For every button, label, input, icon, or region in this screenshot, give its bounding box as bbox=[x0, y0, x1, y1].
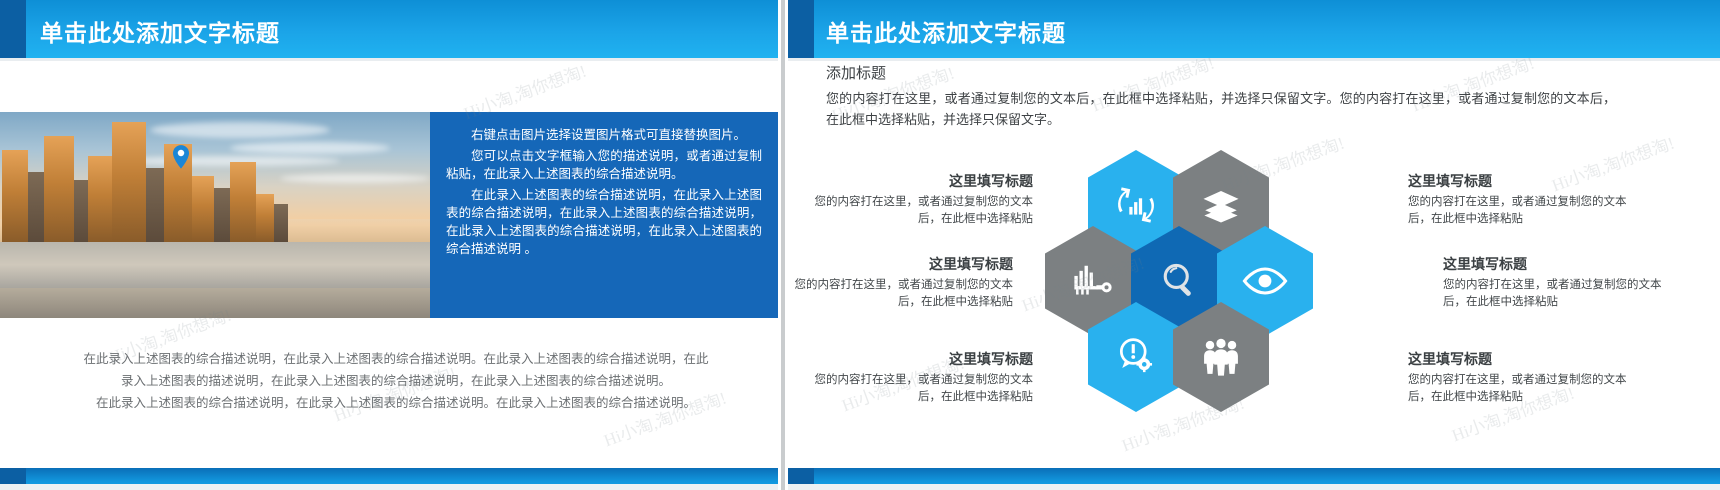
hex-label-desc: 您的内容打在这里，或者通过复制您的文本后，在此框中选择粘贴 bbox=[788, 277, 1013, 311]
refresh-chart-icon bbox=[1113, 182, 1159, 228]
right-page-title: 单击此处添加文字标题 bbox=[826, 14, 1066, 48]
bluebox-paragraph: 在此录入上述图表的综合描述说明，在此录入上述图表的综合描述说明，在此录入上述图表… bbox=[446, 186, 762, 258]
hex-label-title: 这里填写标题 bbox=[788, 255, 1013, 273]
right-header-bar: 单击此处添加文字标题 bbox=[788, 0, 1720, 58]
photo-building bbox=[192, 176, 214, 242]
photo-building bbox=[214, 188, 230, 242]
hex-label-desc: 您的内容打在这里，或者通过复制您的文本后，在此框中选择粘贴 bbox=[798, 194, 1033, 228]
hex-label-desc: 您的内容打在这里，或者通过复制您的文本后，在此框中选择粘贴 bbox=[1408, 372, 1643, 406]
left-page-title: 单击此处添加文字标题 bbox=[40, 14, 280, 48]
hex-label-title: 这里填写标题 bbox=[1443, 255, 1678, 273]
caption-line: 在此录入上述图表的综合描述说明，在此录入上述图表的综合描述说明。在此录入上述图表… bbox=[76, 348, 716, 370]
location-pin-icon bbox=[168, 144, 194, 170]
hex-label-4: 这里填写标题 您的内容打在这里，或者通过复制您的文本后，在此框中选择粘贴 bbox=[1443, 255, 1678, 311]
hex-label-title: 这里填写标题 bbox=[798, 350, 1033, 368]
right-intro-block: 添加标题 您的内容打在这里，或者通过复制您的文本后，在此框中选择粘贴，并选择只保… bbox=[826, 62, 1616, 130]
photo-building bbox=[112, 122, 146, 242]
photo-beach bbox=[0, 288, 430, 318]
slides-stage: 单击此处添加文字标题 bbox=[0, 0, 1720, 490]
left-blue-textbox: 右键点击图片选择设置图片格式可直接替换图片。 您可以点击文字框输入您的描述说明，… bbox=[430, 112, 778, 318]
photo-building bbox=[256, 194, 274, 242]
photo-building bbox=[2, 150, 28, 242]
bluebox-paragraph: 右键点击图片选择设置图片格式可直接替换图片。 bbox=[446, 126, 762, 144]
eye-icon bbox=[1241, 264, 1289, 298]
people-icon bbox=[1199, 337, 1243, 377]
photo-cloud bbox=[150, 122, 330, 138]
right-footer-strip bbox=[788, 484, 1720, 490]
caption-line: 在此录入上述图表的综合描述说明，在此录入上述图表的综合描述说明。在此录入上述图表… bbox=[76, 392, 716, 414]
photo-building bbox=[146, 168, 164, 242]
photo-cloud bbox=[280, 174, 430, 183]
hex-label-title: 这里填写标题 bbox=[1408, 172, 1643, 190]
hexagon-cluster bbox=[1033, 150, 1333, 412]
hex-label-desc: 您的内容打在这里，或者通过复制您的文本后，在此框中选择粘贴 bbox=[798, 372, 1033, 406]
right-header-underline bbox=[788, 58, 1720, 61]
left-caption: 在此录入上述图表的综合描述说明，在此录入上述图表的综合描述说明。在此录入上述图表… bbox=[76, 348, 716, 414]
hex-label-6: 这里填写标题 您的内容打在这里，或者通过复制您的文本后，在此框中选择粘贴 bbox=[1408, 350, 1643, 406]
photo-cloud bbox=[230, 142, 390, 154]
left-photo bbox=[0, 112, 430, 318]
magnifier-icon bbox=[1157, 259, 1201, 303]
hex-label-title: 这里填写标题 bbox=[1408, 350, 1643, 368]
right-intro-title: 添加标题 bbox=[826, 62, 1616, 83]
chart-key-icon bbox=[1071, 260, 1115, 302]
caption-line: 录入上述图表的描述说明，在此录入上述图表的综合描述说明，在此录入上述图表的综合描… bbox=[76, 370, 716, 392]
hex-label-5: 这里填写标题 您的内容打在这里，或者通过复制您的文本后，在此框中选择粘贴 bbox=[798, 350, 1033, 406]
photo-building bbox=[44, 136, 74, 242]
photo-building bbox=[74, 180, 88, 242]
left-header-accent-block bbox=[0, 0, 26, 58]
photo-building bbox=[274, 204, 288, 242]
layers-icon bbox=[1200, 184, 1242, 226]
bluebox-paragraph: 您可以点击文字框输入您的描述说明，或者通过复制粘贴，在此录入上述图表的综合描述说… bbox=[446, 147, 762, 183]
right-intro-body: 您的内容打在这里，或者通过复制您的文本后，在此框中选择粘贴，并选择只保留文字。您… bbox=[826, 88, 1616, 130]
hex-label-desc: 您的内容打在这里，或者通过复制您的文本后，在此框中选择粘贴 bbox=[1408, 194, 1643, 228]
photo-building bbox=[88, 156, 112, 242]
slide-left: 单击此处添加文字标题 bbox=[0, 0, 778, 490]
alert-gear-icon bbox=[1114, 335, 1158, 379]
slide-right: 单击此处添加文字标题 添加标题 您的内容打在这里，或者通过复制您的文本后，在此框… bbox=[788, 0, 1720, 490]
photo-building bbox=[230, 162, 256, 242]
left-header-bar: 单击此处添加文字标题 bbox=[0, 0, 778, 58]
hex-label-3: 这里填写标题 您的内容打在这里，或者通过复制您的文本后，在此框中选择粘贴 bbox=[788, 255, 1013, 311]
hex-label-desc: 您的内容打在这里，或者通过复制您的文本后，在此框中选择粘贴 bbox=[1443, 277, 1678, 311]
left-header-underline bbox=[0, 58, 778, 61]
right-header-accent-block bbox=[788, 0, 814, 58]
left-footer-strip bbox=[0, 484, 778, 490]
hex-label-title: 这里填写标题 bbox=[798, 172, 1033, 190]
photo-building bbox=[28, 172, 44, 242]
slide-divider bbox=[778, 0, 788, 490]
hex-label-2: 这里填写标题 您的内容打在这里，或者通过复制您的文本后，在此框中选择粘贴 bbox=[1408, 172, 1643, 228]
hex-label-1: 这里填写标题 您的内容打在这里，或者通过复制您的文本后，在此框中选择粘贴 bbox=[798, 172, 1033, 228]
